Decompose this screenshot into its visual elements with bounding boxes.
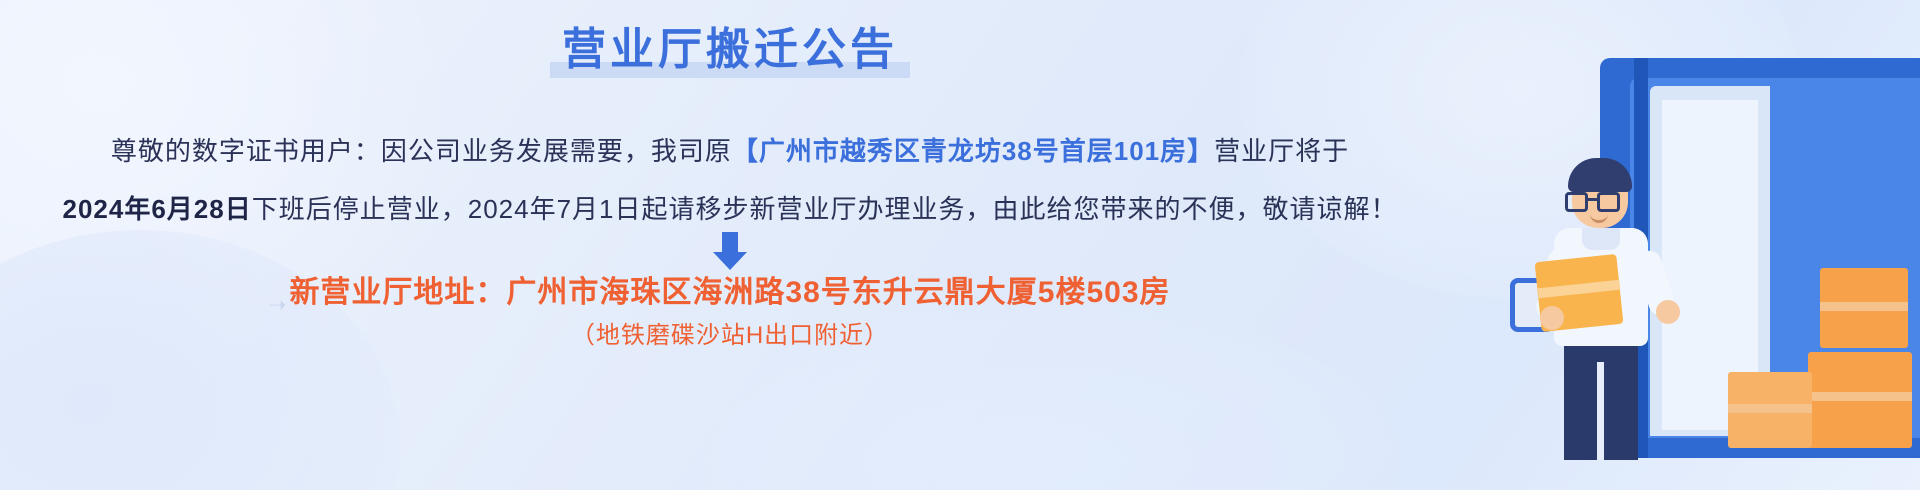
courier-collar	[1582, 228, 1620, 250]
new-address-text: 新营业厅地址：广州市海珠区海洲路38号东升云鼎大厦5楼503房	[0, 278, 1460, 308]
announcement-content: 营业厅搬迁公告 尊敬的数字证书用户：因公司业务发展需要，我司原【广州市越秀区青龙…	[0, 0, 1460, 490]
down-arrow-icon	[713, 232, 747, 270]
line1-suffix-text: 营业厅将于	[1214, 136, 1349, 166]
arrow-stem	[722, 232, 738, 254]
closing-date-text: 2024年6月28日	[63, 194, 252, 224]
line2-body-text: 下班后停止营业，2024年7月1日起请移步新营业厅办理业务，由此给您带来的不便，…	[252, 194, 1398, 224]
metro-note-text: （地铁磨碟沙站H出口附近）	[0, 324, 1460, 348]
delivery-illustration	[1400, 0, 1920, 490]
courier-left-hand	[1540, 306, 1564, 330]
courier-right-hand	[1656, 300, 1680, 324]
relocation-announcement-banner: 营业厅搬迁公告 尊敬的数字证书用户：因公司业务发展需要，我司原【广州市越秀区青龙…	[0, 0, 1920, 490]
courier-leg-gap	[1597, 362, 1604, 460]
announcement-line-2: 2024年6月28日下班后停止营业，2024年7月1日起请移步新营业厅办理业务，…	[0, 196, 1460, 222]
page-title: 营业厅搬迁公告	[556, 28, 904, 72]
arrow-head	[713, 252, 747, 270]
line1-prefix-text: 尊敬的数字证书用户：因公司业务发展需要，我司原	[111, 136, 732, 166]
page-title-wrapper: 营业厅搬迁公告	[0, 28, 1460, 72]
courier-glasses-bridge	[1588, 198, 1597, 201]
courier-glasses-right-lens	[1597, 192, 1620, 212]
cardboard-box	[1820, 268, 1908, 348]
cardboard-box	[1728, 372, 1812, 448]
courier-glasses-left-lens	[1565, 192, 1588, 212]
cardboard-box	[1808, 352, 1912, 448]
old-address-text: 【广州市越秀区青龙坊38号首层101房】	[732, 136, 1214, 166]
page-title-text: 营业厅搬迁公告	[562, 25, 898, 74]
announcement-line-1: 尊敬的数字证书用户：因公司业务发展需要，我司原【广州市越秀区青龙坊38号首层10…	[0, 138, 1460, 164]
